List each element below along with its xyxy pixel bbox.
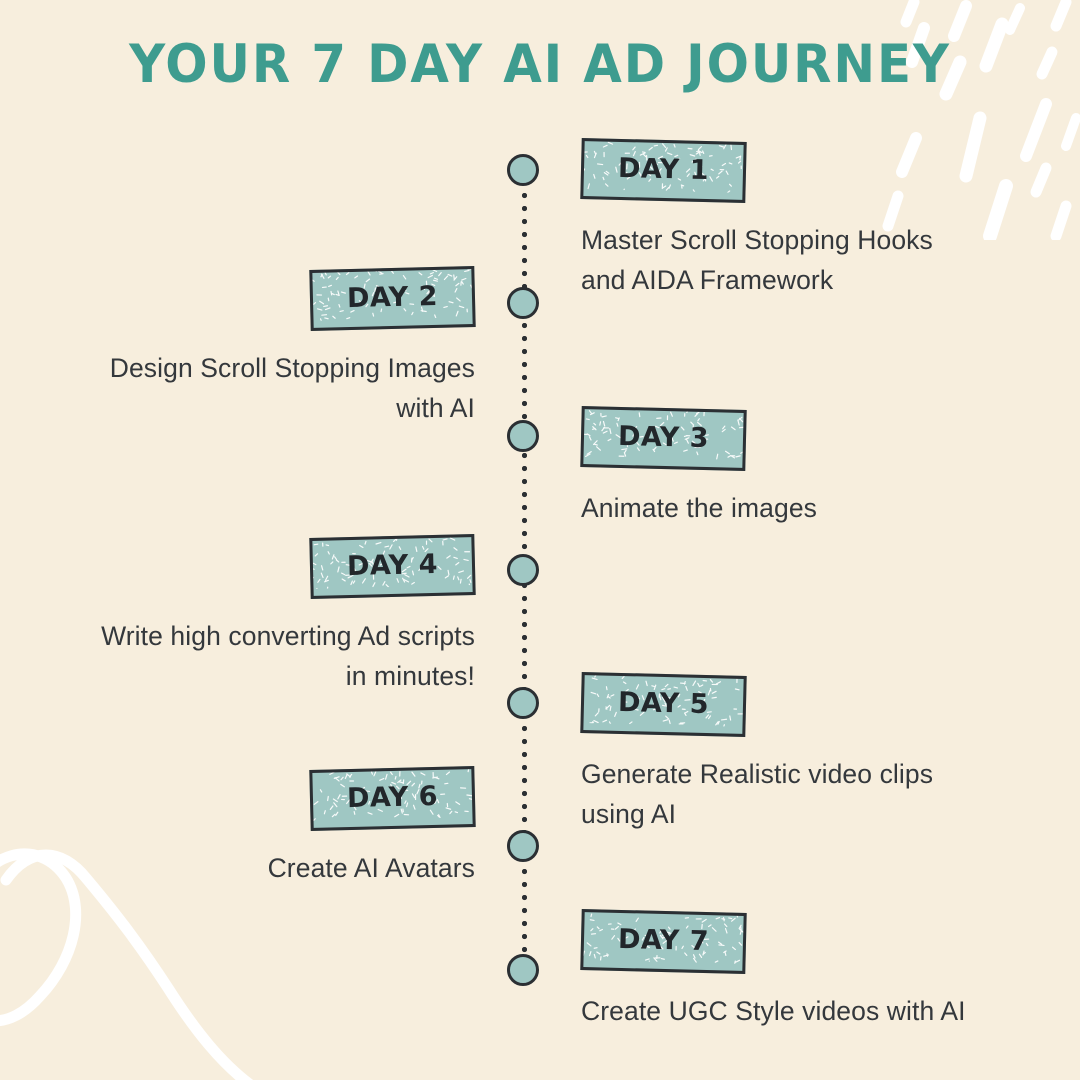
day-chip-5[interactable]: DAY 5 [580, 672, 746, 737]
day-description-1: Master Scroll Stopping Hooks and AIDA Fr… [581, 220, 973, 300]
day-chip-label-1: DAY 1 [618, 153, 710, 186]
day-item-5: DAY 5 Generate Realistic video clips usi… [581, 674, 1001, 834]
timeline-node-5 [507, 687, 539, 719]
day-item-6: DAY 6 Create AI Avatars [55, 768, 475, 888]
day-chip-4[interactable]: DAY 4 [309, 534, 475, 599]
day-chip-label-5: DAY 5 [618, 687, 710, 720]
day-description-7: Create UGC Style videos with AI [581, 991, 973, 1031]
day-chip-label-6: DAY 6 [347, 781, 439, 814]
timeline-node-1 [507, 154, 539, 186]
day-chip-1[interactable]: DAY 1 [580, 138, 746, 203]
day-chip-2[interactable]: DAY 2 [309, 266, 475, 331]
day-item-1: DAY 1 Master Scroll Stopping Hooks and A… [581, 140, 1001, 300]
day-item-4: DAY 4 Write high converting Ad scripts i… [55, 536, 475, 696]
day-chip-label-2: DAY 2 [347, 281, 439, 314]
day-description-6: Create AI Avatars [83, 848, 475, 888]
day-chip-label-4: DAY 4 [347, 549, 439, 582]
timeline-node-4 [507, 554, 539, 586]
infographic-canvas: YOUR 7 DAY AI AD JOURNEY DAY 1 Master Sc… [0, 0, 1080, 1080]
timeline-node-6 [507, 830, 539, 862]
day-item-7: DAY 7 Create UGC Style videos with AI [581, 911, 1001, 1031]
day-item-3: DAY 3 Animate the images [581, 408, 1001, 528]
day-chip-6[interactable]: DAY 6 [309, 766, 475, 831]
timeline-node-2 [507, 287, 539, 319]
day-chip-7[interactable]: DAY 7 [580, 909, 746, 974]
page-title: YOUR 7 DAY AI AD JOURNEY [32, 34, 1047, 96]
day-item-2: DAY 2 Design Scroll Stopping Images with… [55, 268, 475, 428]
day-description-5: Generate Realistic video clips using AI [581, 754, 973, 834]
day-description-2: Design Scroll Stopping Images with AI [83, 348, 475, 428]
day-chip-label-3: DAY 3 [618, 421, 710, 454]
day-chip-3[interactable]: DAY 3 [580, 406, 746, 471]
day-description-3: Animate the images [581, 488, 973, 528]
timeline-node-3 [507, 420, 539, 452]
day-chip-label-7: DAY 7 [618, 924, 710, 957]
timeline-node-7 [507, 954, 539, 986]
timeline-spine [507, 150, 541, 990]
day-description-4: Write high converting Ad scripts in minu… [83, 616, 475, 696]
